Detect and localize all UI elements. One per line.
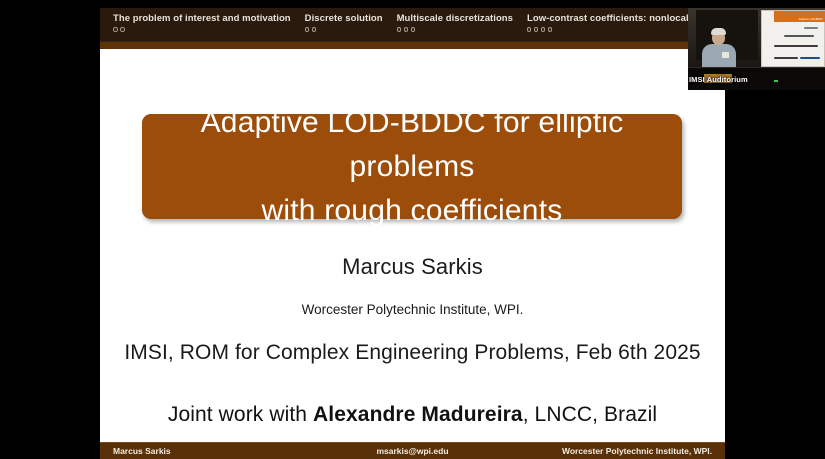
- nav-section-multiscale-discretizations[interactable]: Multiscale discretizations: [397, 13, 513, 32]
- author-name: Marcus Sarkis: [100, 254, 725, 280]
- joint-work-line: Joint work with Alexandre Madureira, LNC…: [100, 403, 725, 427]
- projected-title-text: Adaptive LOD-BDDC: [799, 18, 823, 21]
- nav-section-title: Multiscale discretizations: [397, 13, 513, 24]
- nav-section-discrete-solution[interactable]: Discrete solution: [305, 13, 383, 32]
- nav-dot[interactable]: [113, 27, 118, 32]
- nav-section-title: The problem of interest and motivation: [113, 13, 291, 24]
- collaborator-name: Alexandre Madureira: [313, 403, 523, 426]
- projected-line: [800, 57, 820, 59]
- slide-title-line-2: with rough coefficients: [262, 189, 563, 233]
- projection-screen: Adaptive LOD-BDDC: [761, 10, 825, 67]
- joint-work-suffix: , LNCC, Brazil: [523, 403, 657, 426]
- nav-section-problem[interactable]: The problem of interest and motivation: [113, 13, 291, 32]
- nav-dot[interactable]: [120, 27, 125, 32]
- presentation-slide: The problem of interest and motivation D…: [100, 8, 725, 459]
- speaker-hair: [711, 28, 726, 35]
- navigation-divider: [100, 41, 725, 49]
- nav-dot[interactable]: [312, 27, 317, 32]
- nav-dot[interactable]: [404, 27, 409, 32]
- slide-footer: Marcus Sarkis msarkis@wpi.edu Worcester …: [100, 442, 725, 459]
- nav-section-dots: [113, 27, 291, 32]
- venue-and-date: IMSI, ROM for Complex Engineering Proble…: [100, 341, 725, 365]
- projected-line: [774, 45, 818, 47]
- navigation-sections: The problem of interest and motivation D…: [100, 8, 725, 32]
- video-stage: The problem of interest and motivation D…: [0, 0, 825, 459]
- nav-section-dots: [305, 27, 383, 32]
- speaker-badge: [722, 52, 729, 58]
- projected-title-band: Adaptive LOD-BDDC: [774, 11, 825, 22]
- joint-work-prefix: Joint work with: [168, 403, 313, 426]
- nav-dot[interactable]: [534, 27, 539, 32]
- location-label: IMSI Auditorium: [689, 75, 748, 84]
- speaker-video-overlay[interactable]: Adaptive LOD-BDDC IMSI Auditorium: [688, 8, 825, 90]
- slide-content: Adaptive LOD-BDDC for elliptic problems …: [100, 49, 725, 444]
- nav-dot[interactable]: [411, 27, 416, 32]
- slide-title-box: Adaptive LOD-BDDC for elliptic problems …: [142, 114, 682, 219]
- nav-dot[interactable]: [541, 27, 546, 32]
- projected-line: [774, 57, 798, 59]
- footer-institution: Worcester Polytechnic Institute, WPI.: [562, 446, 712, 456]
- nav-dot[interactable]: [397, 27, 402, 32]
- projected-line: [784, 35, 814, 37]
- nav-dot[interactable]: [548, 27, 553, 32]
- equipment-led-icon: [774, 80, 778, 82]
- nav-section-dots: [397, 27, 513, 32]
- slide-navigation-bar: The problem of interest and motivation D…: [100, 8, 725, 41]
- author-affiliation: Worcester Polytechnic Institute, WPI.: [100, 302, 725, 317]
- slide-title-line-1: Adaptive LOD-BDDC for elliptic problems: [142, 101, 682, 189]
- nav-dot[interactable]: [527, 27, 532, 32]
- nav-dot[interactable]: [305, 27, 310, 32]
- projected-line: [804, 27, 818, 29]
- nav-section-title: Discrete solution: [305, 13, 383, 24]
